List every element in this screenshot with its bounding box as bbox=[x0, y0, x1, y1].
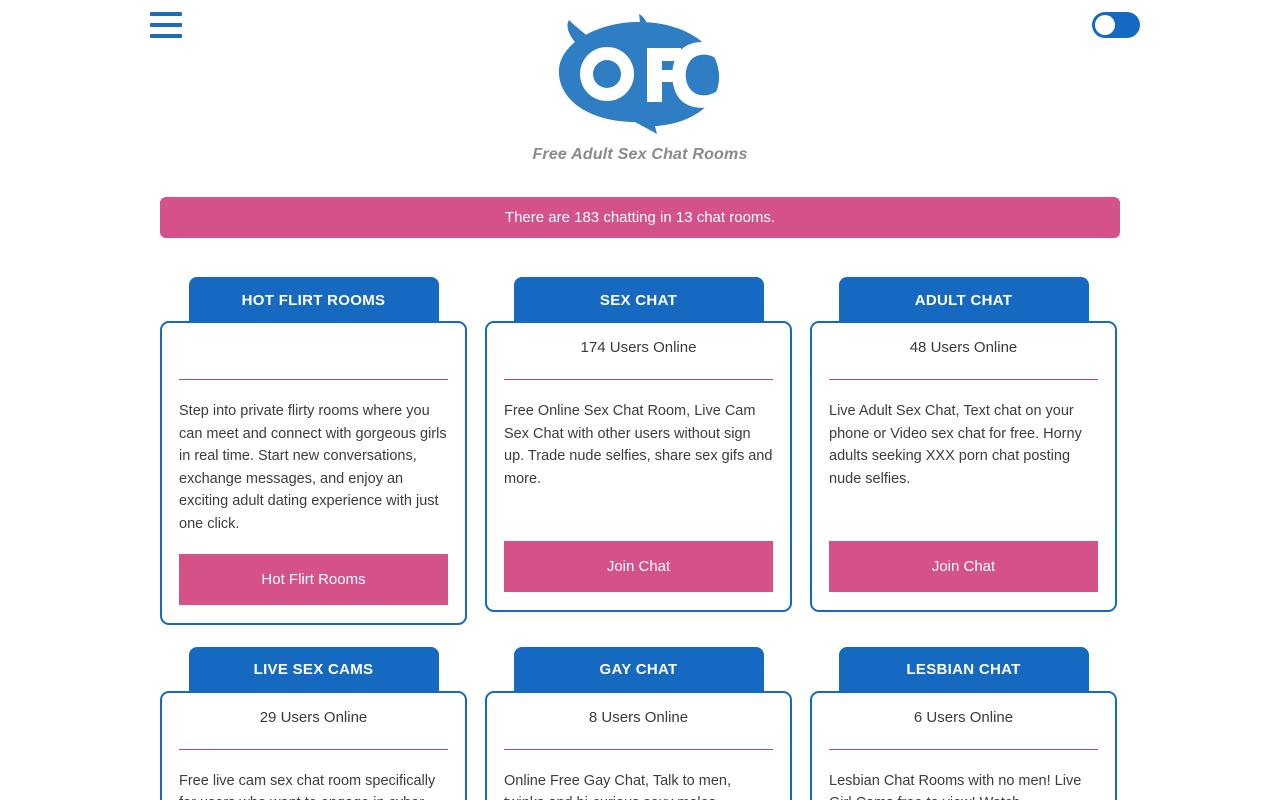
card-description: Live Adult Sex Chat, Text chat on your p… bbox=[829, 400, 1098, 523]
card-description: Free Online Sex Chat Room, Live Cam Sex … bbox=[504, 400, 773, 523]
join-chat-button[interactable]: Join Chat bbox=[829, 541, 1098, 592]
site-tagline: Free Adult Sex Chat Rooms bbox=[0, 146, 1280, 164]
join-chat-button[interactable]: Hot Flirt Rooms bbox=[179, 554, 448, 605]
card-body: 8 Users Online Online Free Gay Chat, Tal… bbox=[485, 691, 792, 800]
card-title: LESBIAN CHAT bbox=[839, 647, 1089, 693]
users-online-count bbox=[179, 339, 448, 363]
card-title: SEX CHAT bbox=[514, 277, 764, 323]
site-logo[interactable] bbox=[0, 12, 1280, 143]
card-body: Step into private flirty rooms where you… bbox=[160, 321, 467, 625]
card-description: Step into private flirty rooms where you… bbox=[179, 400, 448, 536]
users-online-count: 6 Users Online bbox=[829, 709, 1098, 733]
chat-room-card[interactable]: SEX CHAT 174 Users Online Free Online Se… bbox=[485, 277, 792, 625]
chat-room-card[interactable]: GAY CHAT 8 Users Online Online Free Gay … bbox=[485, 647, 792, 800]
card-divider bbox=[829, 749, 1098, 750]
chat-room-card[interactable]: LESBIAN CHAT 6 Users Online Lesbian Chat… bbox=[810, 647, 1117, 800]
card-description: Lesbian Chat Rooms with no men! Live Gir… bbox=[829, 770, 1098, 800]
chat-rooms-grid: HOT FLIRT ROOMS Step into private flirty… bbox=[160, 277, 1120, 800]
card-title: ADULT CHAT bbox=[839, 277, 1089, 323]
join-chat-button[interactable]: Join Chat bbox=[504, 541, 773, 592]
card-title: LIVE SEX CAMS bbox=[189, 647, 439, 693]
card-description: Free live cam sex chat room specifically… bbox=[179, 770, 448, 800]
card-divider bbox=[504, 379, 773, 380]
card-divider bbox=[179, 379, 448, 380]
card-divider bbox=[179, 749, 448, 750]
users-online-count: 48 Users Online bbox=[829, 339, 1098, 363]
chat-room-card[interactable]: HOT FLIRT ROOMS Step into private flirty… bbox=[160, 277, 467, 625]
card-body: 29 Users Online Free live cam sex chat r… bbox=[160, 691, 467, 800]
chat-room-card[interactable]: LIVE SEX CAMS 29 Users Online Free live … bbox=[160, 647, 467, 800]
users-online-count: 29 Users Online bbox=[179, 709, 448, 733]
card-title: HOT FLIRT ROOMS bbox=[189, 277, 439, 323]
card-body: 174 Users Online Free Online Sex Chat Ro… bbox=[485, 321, 792, 612]
card-divider bbox=[829, 379, 1098, 380]
card-body: 6 Users Online Lesbian Chat Rooms with n… bbox=[810, 691, 1117, 800]
users-online-count: 174 Users Online bbox=[504, 339, 773, 363]
ofc-speech-bubble-logo bbox=[551, 12, 729, 138]
chatters-count-banner: There are 183 chatting in 13 chat rooms. bbox=[160, 197, 1120, 238]
card-divider bbox=[504, 749, 773, 750]
page-root: Free Adult Sex Chat Rooms There are 183 … bbox=[0, 0, 1280, 800]
card-description: Online Free Gay Chat, Talk to men, twink… bbox=[504, 770, 773, 800]
card-title: GAY CHAT bbox=[514, 647, 764, 693]
chat-room-card[interactable]: ADULT CHAT 48 Users Online Live Adult Se… bbox=[810, 277, 1117, 625]
card-body: 48 Users Online Live Adult Sex Chat, Tex… bbox=[810, 321, 1117, 612]
users-online-count: 8 Users Online bbox=[504, 709, 773, 733]
